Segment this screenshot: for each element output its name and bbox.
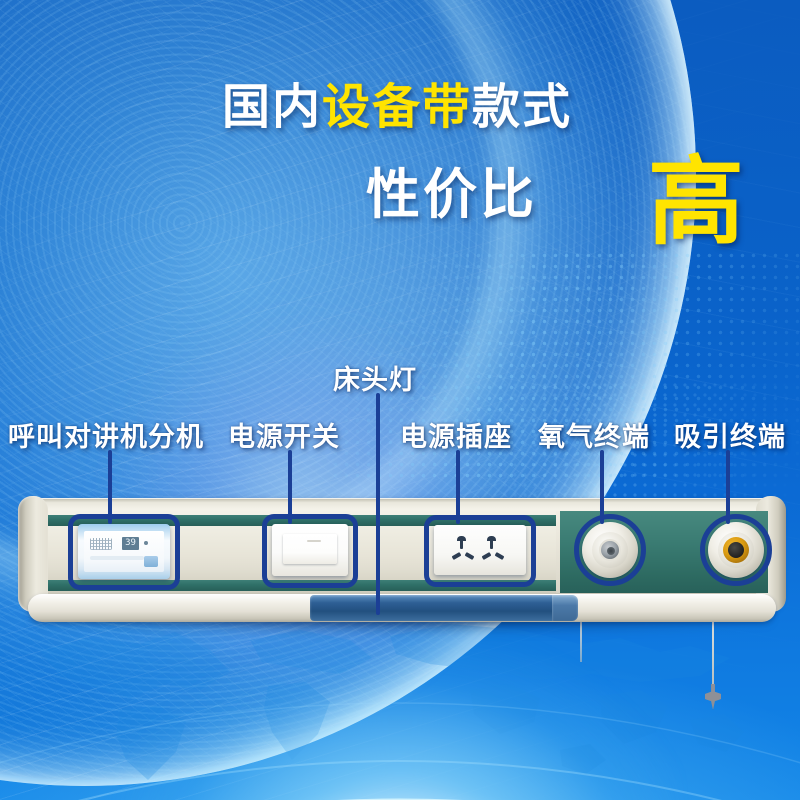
leader-line-intercom bbox=[108, 450, 112, 524]
callout-label-intercom: 呼叫对讲机分机 bbox=[8, 415, 204, 454]
callout-label-suction-terminal: 吸引终端 bbox=[674, 415, 786, 454]
callout-group: 呼叫对讲机分机 电源开关 床头灯 电源插座 氧气终端 吸引终端 bbox=[0, 0, 800, 800]
leader-line-bed-lamp bbox=[376, 393, 380, 615]
leader-line-oxygen-terminal bbox=[600, 450, 604, 524]
callout-label-power-switch: 电源开关 bbox=[228, 415, 340, 454]
callout-label-bed-lamp: 床头灯 bbox=[333, 358, 417, 397]
leader-line-suction-terminal bbox=[726, 450, 730, 524]
leader-line-power-socket bbox=[456, 450, 460, 524]
leader-line-power-switch bbox=[288, 450, 292, 524]
callout-label-power-socket: 电源插座 bbox=[400, 415, 512, 454]
callout-label-oxygen-terminal: 氧气终端 bbox=[538, 415, 650, 454]
